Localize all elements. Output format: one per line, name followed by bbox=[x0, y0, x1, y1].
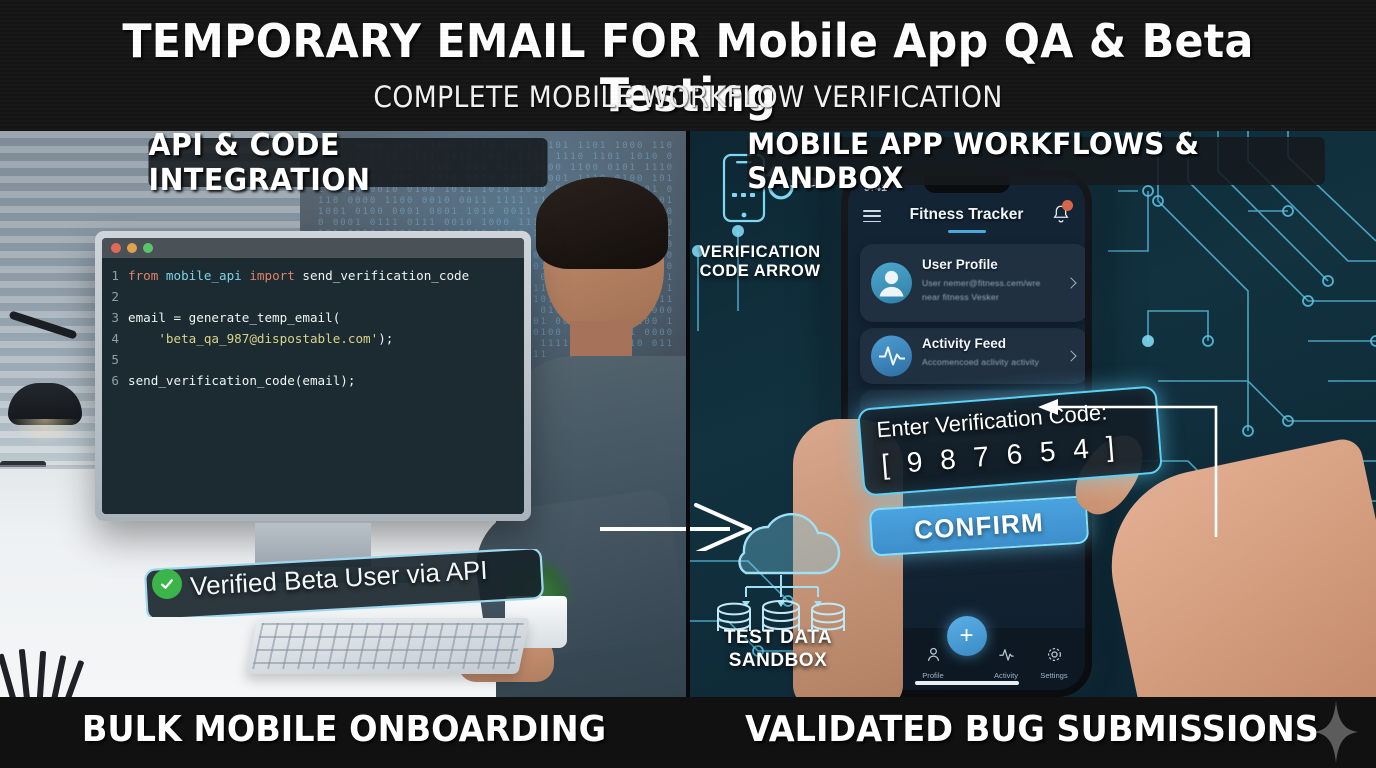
footer-right-text: VALIDATED BUG SUBMISSIONS bbox=[712, 709, 1352, 750]
code-line: 4 'beta_qa_987@dispostable.com'); bbox=[106, 328, 518, 349]
page-subtitle: COMPLETE MOBILE WORKFLOW VERIFICATION bbox=[55, 80, 1321, 114]
left-panel-banner: API & CODE INTEGRATION bbox=[149, 138, 548, 187]
chevron-right-icon bbox=[1065, 350, 1076, 361]
list-item-title: Activity Feed bbox=[922, 336, 1006, 351]
code-line-number: 6 bbox=[106, 370, 128, 391]
code-line: 2 bbox=[106, 286, 518, 307]
nav-label: Activity bbox=[983, 671, 1029, 680]
nav-label: Profile bbox=[910, 671, 956, 680]
keyboard bbox=[246, 618, 530, 674]
code-line: 1from mobile_api import send_verificatio… bbox=[106, 265, 518, 286]
header-bar: TEMPORARY EMAIL FOR Mobile App QA & Beta… bbox=[0, 0, 1376, 131]
code-token: import bbox=[249, 265, 302, 286]
left-panel: 1110 0000 1001 1100 0110 1001 1101 1101 … bbox=[0, 131, 688, 697]
infographic-page: TEMPORARY EMAIL FOR Mobile App QA & Beta… bbox=[0, 0, 1376, 768]
list-item-activity-feed[interactable]: Activity Feed Accomencoed aclivity activ… bbox=[860, 328, 1085, 384]
code-line-number: 4 bbox=[106, 328, 128, 349]
code-token: send_verification_code(email); bbox=[128, 370, 355, 391]
label-line-2: SANDBOX bbox=[698, 649, 858, 672]
right-panel-banner: MOBILE APP WORKFLOWS & SANDBOX bbox=[747, 137, 1325, 185]
pencils bbox=[0, 649, 86, 697]
chevron-right-icon bbox=[1065, 277, 1076, 288]
code-line-number: 2 bbox=[106, 286, 128, 307]
list-item-subtitle-2: near fitness Vesker bbox=[922, 292, 999, 302]
desk-lamp-glow bbox=[10, 419, 80, 445]
test-data-sandbox-label: TEST DATA SANDBOX bbox=[698, 626, 858, 672]
editor-window-titlebar bbox=[102, 238, 524, 258]
user-avatar-icon bbox=[871, 263, 912, 304]
activity-pulse-icon bbox=[871, 336, 912, 377]
list-item-user-profile[interactable]: User Profile User nemer@fitness.cem/wre … bbox=[860, 244, 1085, 322]
right-panel: 9:41 Fitness Tracker bbox=[688, 131, 1376, 697]
list-item-title: User Profile bbox=[922, 257, 998, 272]
code-line: 6send_verification_code(email); bbox=[106, 370, 518, 391]
circuit-background: 9:41 Fitness Tracker bbox=[688, 131, 1376, 697]
code-token: mobile_api bbox=[166, 265, 249, 286]
person-hair bbox=[536, 177, 668, 269]
code-token: email = generate_temp_email( bbox=[128, 307, 340, 328]
verification-code-arrow-label: VERIFICATION CODE ARROW bbox=[692, 243, 828, 281]
panels-container: 1110 0000 1001 1100 0110 1001 1101 1101 … bbox=[0, 131, 1376, 697]
label-line-2: CODE ARROW bbox=[692, 262, 828, 281]
footer-left-text: BULK MOBILE ONBOARDING bbox=[24, 709, 664, 750]
code-line-number: 5 bbox=[106, 349, 128, 370]
nav-item-settings[interactable]: Settings bbox=[1031, 645, 1077, 680]
add-fab-button[interactable]: + bbox=[947, 616, 987, 656]
page-title: TEMPORARY EMAIL FOR Mobile App QA & Beta… bbox=[48, 14, 1328, 122]
home-indicator bbox=[915, 681, 1019, 685]
code-editor[interactable]: 1from mobile_api import send_verificatio… bbox=[102, 258, 524, 514]
label-line-1: VERIFICATION bbox=[692, 243, 828, 262]
code-token: from bbox=[128, 265, 166, 286]
code-line-number: 3 bbox=[106, 307, 128, 328]
list-item-subtitle-1: User nemer@fitness.cem/wre bbox=[922, 278, 1041, 288]
pulse-icon bbox=[997, 645, 1016, 664]
panel-divider bbox=[686, 131, 690, 697]
code-line-number: 1 bbox=[106, 265, 128, 286]
profile-callout-arrow bbox=[1028, 389, 1228, 549]
code-token: send_verification_code bbox=[302, 265, 469, 286]
check-glyph bbox=[158, 575, 177, 594]
computer-monitor: 1from mobile_api import send_verificatio… bbox=[95, 231, 531, 521]
person-icon bbox=[924, 645, 943, 664]
notification-badge bbox=[1062, 200, 1073, 211]
code-line: 5 bbox=[106, 349, 518, 370]
window-maximize-dot[interactable] bbox=[143, 243, 153, 253]
gear-icon bbox=[1045, 645, 1064, 664]
nav-label: Settings bbox=[1031, 671, 1077, 680]
sparkle-icon bbox=[1314, 701, 1358, 763]
title-underline bbox=[948, 230, 986, 233]
window-minimize-dot[interactable] bbox=[127, 243, 137, 253]
code-token: 'beta_qa_987@dispostable.com' bbox=[128, 328, 378, 349]
nav-item-profile[interactable]: Profile bbox=[910, 645, 956, 680]
list-item-subtitle-1: Accomencoed aclivity activity bbox=[922, 357, 1039, 367]
app-title: Fitness Tracker bbox=[848, 206, 1085, 224]
footer-bar: BULK MOBILE ONBOARDING VALIDATED BUG SUB… bbox=[0, 697, 1376, 768]
monitor-screen: 1from mobile_api import send_verificatio… bbox=[102, 238, 524, 514]
confirm-button-label: CONFIRM bbox=[913, 507, 1044, 546]
pulse-glyph bbox=[871, 336, 912, 377]
avatar-glyph bbox=[871, 263, 912, 304]
code-line: 3email = generate_temp_email( bbox=[106, 307, 518, 328]
nav-item-activity[interactable]: Activity bbox=[983, 645, 1029, 680]
code-token: ); bbox=[378, 328, 393, 349]
flow-arrow bbox=[600, 503, 760, 551]
window-close-dot[interactable] bbox=[111, 243, 121, 253]
